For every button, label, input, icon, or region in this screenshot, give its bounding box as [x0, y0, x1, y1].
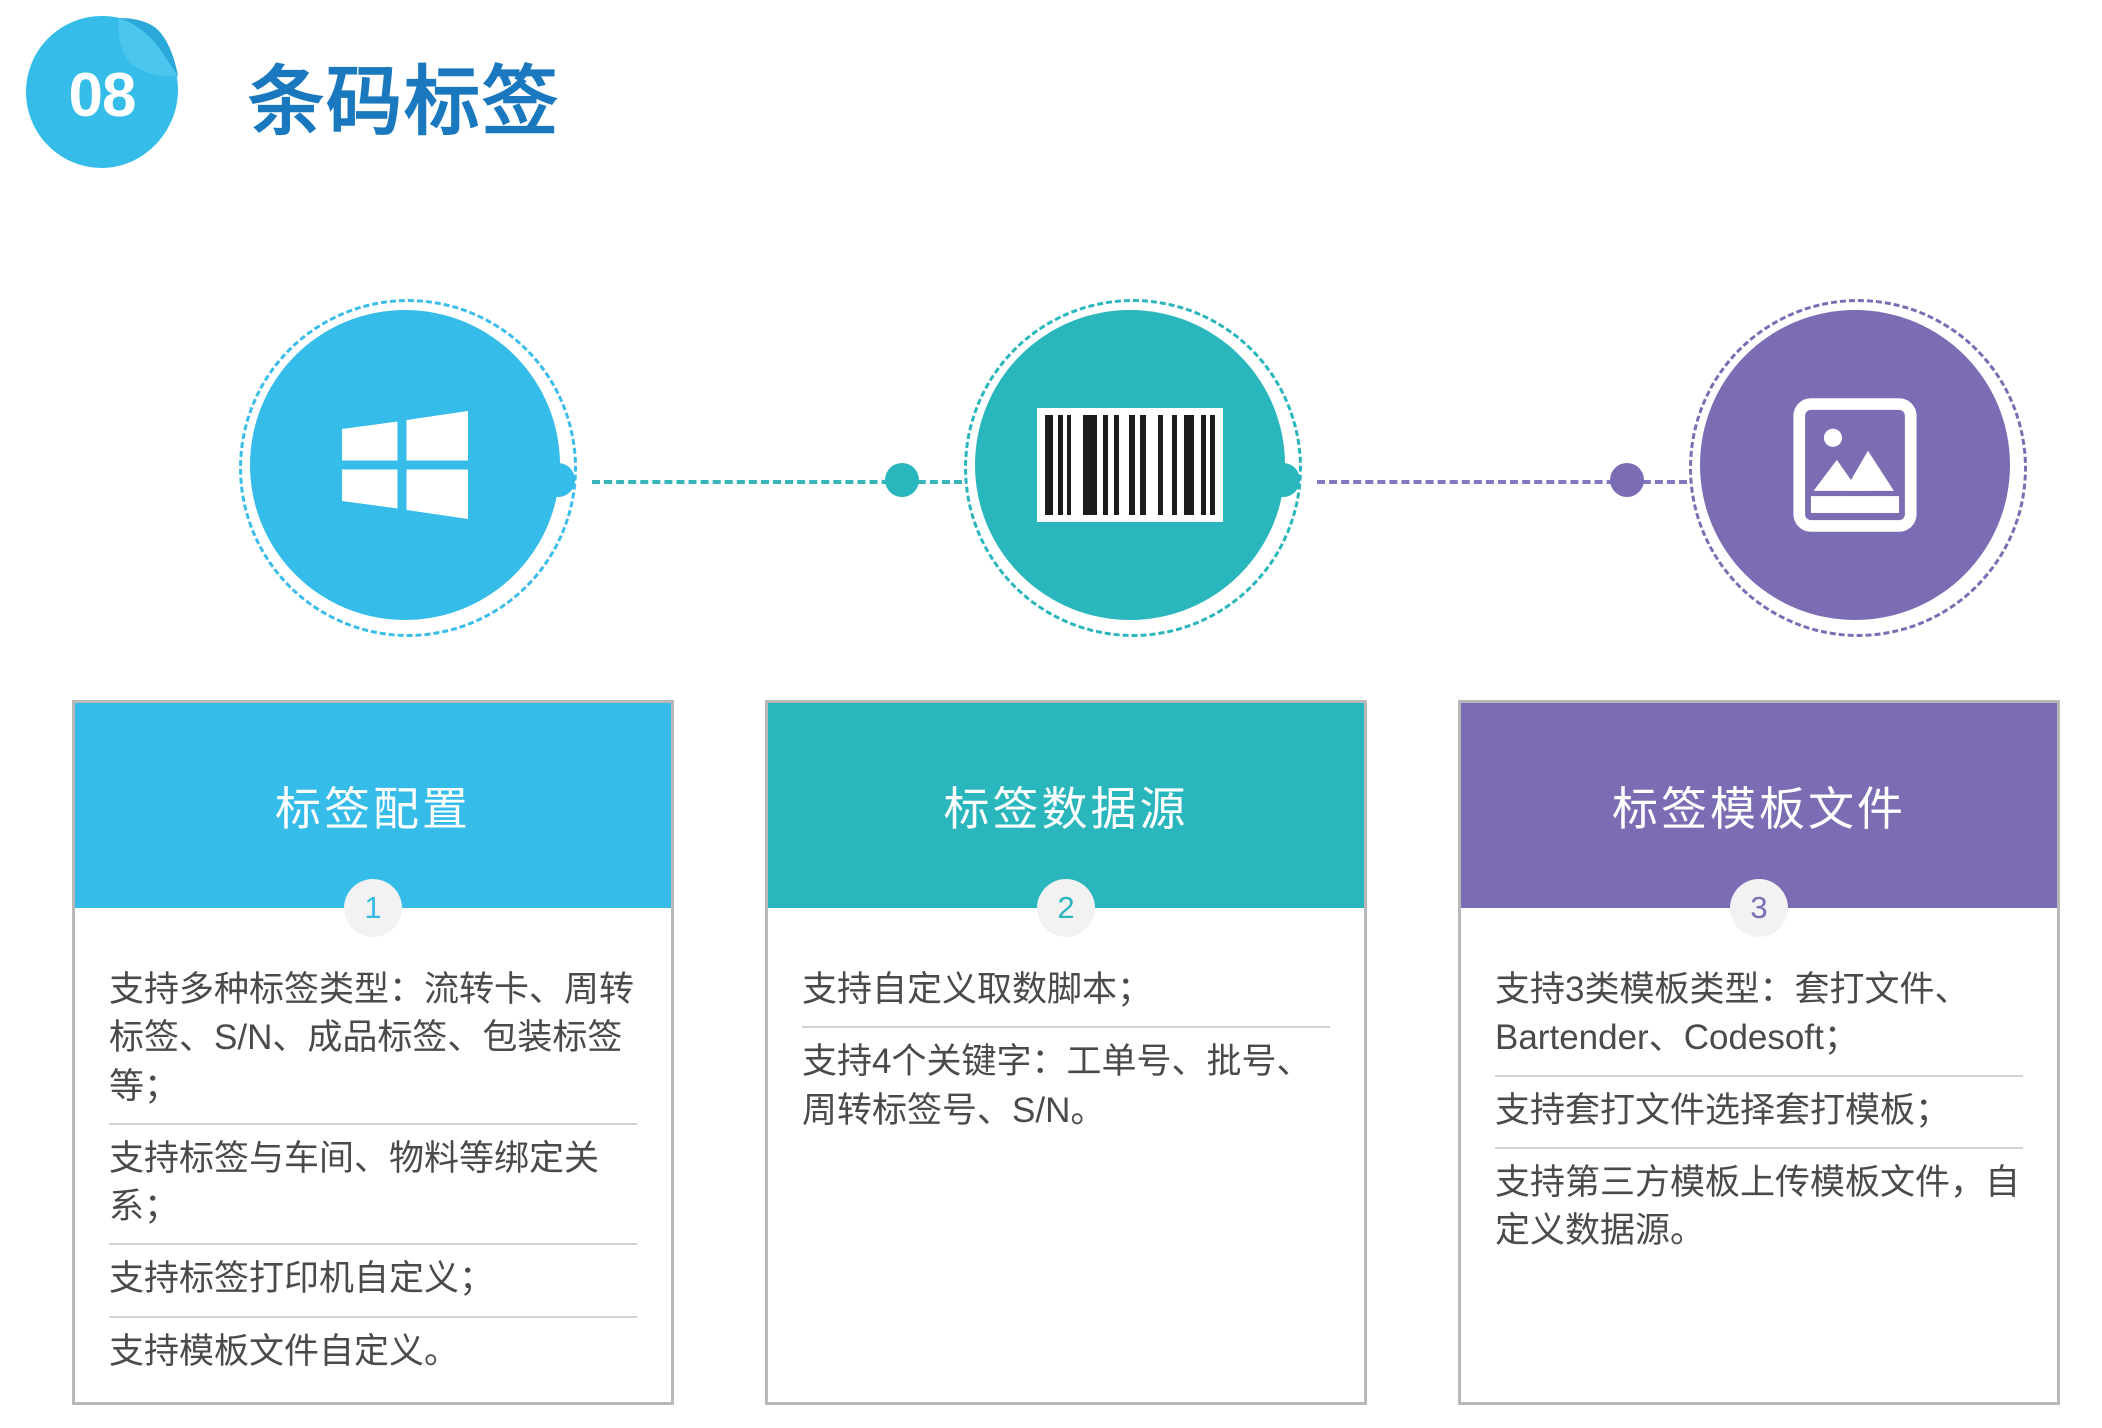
- card-label-config[interactable]: 标签配置 1 支持多种标签类型：流转卡、周转标签、S/N、成品标签、包装标签等；…: [72, 700, 674, 1405]
- card-bullet: 支持标签与车间、物料等绑定关系；: [109, 1125, 637, 1246]
- flow-node-circle: [250, 310, 560, 620]
- card-bullet: 支持4个关键字：工单号、批号、周转标签号、S/N。: [802, 1028, 1330, 1147]
- page-header: 08 条码标签: [0, 0, 2102, 190]
- card-body: 支持3类模板类型：套打文件、Bartender、Codesoft； 支持套打文件…: [1461, 908, 2057, 1287]
- windows-logo-icon: [330, 390, 480, 540]
- card-bullet: 支持3类模板类型：套打文件、Bartender、Codesoft；: [1495, 956, 2023, 1077]
- sticker-number-label: 08: [22, 12, 182, 172]
- page-title: 条码标签: [248, 40, 560, 150]
- connector-dot-2-left: [885, 463, 919, 497]
- card-banner: 标签配置 1: [75, 703, 671, 908]
- card-bullet: 支持多种标签类型：流转卡、周转标签、S/N、成品标签、包装标签等；: [109, 956, 637, 1125]
- step-badge: 1: [344, 879, 402, 937]
- card-bullet: 支持标签打印机自定义；: [109, 1245, 637, 1317]
- card-heading: 标签配置: [275, 773, 471, 839]
- step-badge: 3: [1730, 879, 1788, 937]
- card-banner: 标签数据源 2: [768, 703, 1364, 908]
- image-placeholder-icon: [1790, 395, 1920, 535]
- step-badge: 2: [1037, 879, 1095, 937]
- section-number-sticker: 08: [22, 12, 182, 172]
- card-banner: 标签模板文件 3: [1461, 703, 2057, 908]
- card-heading: 标签数据源: [944, 773, 1189, 839]
- card-label-template-file[interactable]: 标签模板文件 3 支持3类模板类型：套打文件、Bartender、Codesof…: [1458, 700, 2060, 1405]
- card-heading: 标签模板文件: [1612, 773, 1906, 839]
- flow-node-circle: [1700, 310, 2010, 620]
- feature-cards: 标签配置 1 支持多种标签类型：流转卡、周转标签、S/N、成品标签、包装标签等；…: [0, 700, 2102, 1420]
- card-label-datasource[interactable]: 标签数据源 2 支持自定义取数脚本； 支持4个关键字：工单号、批号、周转标签号、…: [765, 700, 1367, 1405]
- card-bullet: 支持自定义取数脚本；: [802, 956, 1330, 1028]
- card-bullet: 支持第三方模板上传模板文件，自定义数据源。: [1495, 1149, 2023, 1268]
- card-body: 支持多种标签类型：流转卡、周转标签、S/N、成品标签、包装标签等； 支持标签与车…: [75, 908, 671, 1408]
- card-bullet: 支持模板文件自定义。: [109, 1318, 637, 1388]
- card-bullet: 支持套打文件选择套打模板；: [1495, 1077, 2023, 1149]
- flow-node-barcode[interactable]: [957, 292, 1303, 638]
- barcode-icon: [1037, 408, 1223, 522]
- card-body: 支持自定义取数脚本； 支持4个关键字：工单号、批号、周转标签号、S/N。: [768, 908, 1364, 1167]
- flow-node-circle: [975, 310, 1285, 620]
- flow-node-template-image[interactable]: [1682, 292, 2028, 638]
- connector-dot-3-left: [1610, 463, 1644, 497]
- flow-node-windows[interactable]: [232, 292, 578, 638]
